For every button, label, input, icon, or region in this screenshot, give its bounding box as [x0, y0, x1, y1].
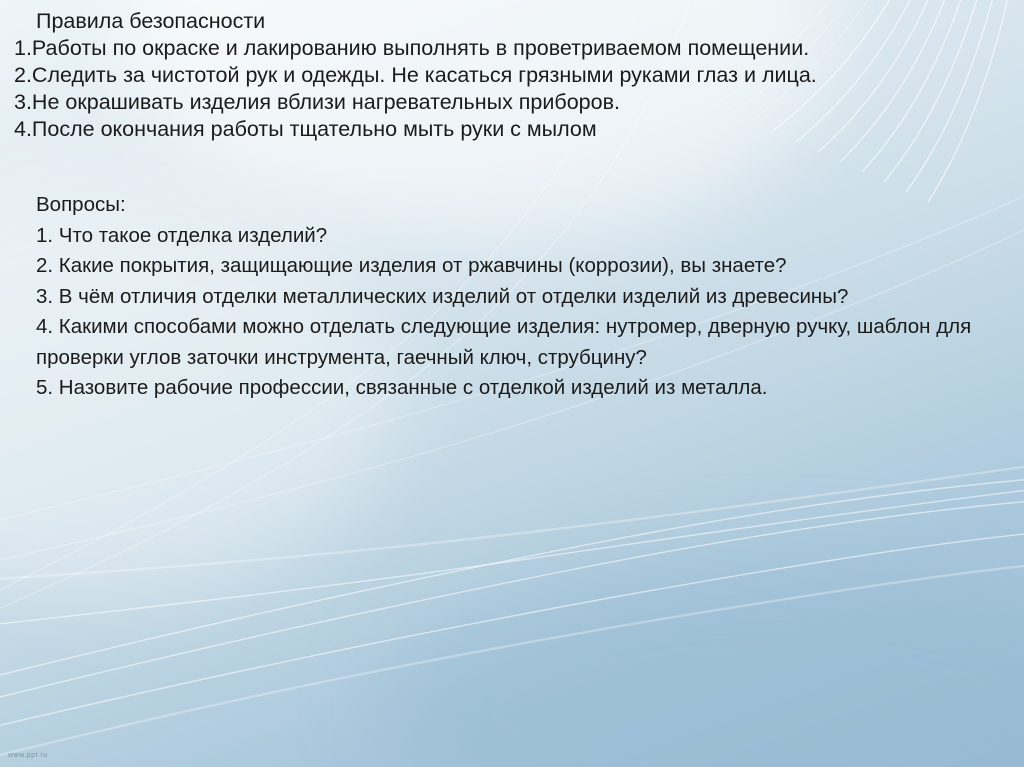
wave-lines-graphic — [0, 430, 1024, 767]
safety-rules-block: Правила безопасности 1.Работы по окраске… — [14, 8, 1014, 143]
questions-block: Вопросы: 1. Что такое отделка изделий? 2… — [36, 190, 996, 404]
questions-heading: Вопросы: — [36, 190, 996, 221]
safety-rule-1: 1.Работы по окраске и лакированию выполн… — [14, 35, 1014, 62]
safety-rule-2: 2.Следить за чистотой рук и одежды. Не к… — [14, 62, 1014, 89]
slide-heading: Правила безопасности — [14, 8, 1014, 35]
question-1: 1. Что такое отделка изделий? — [36, 221, 996, 252]
question-4: 4. Какими способами можно отделать следу… — [36, 312, 996, 373]
watermark-label: www.ppt.ru — [8, 752, 48, 759]
slide-canvas: Правила безопасности 1.Работы по окраске… — [0, 0, 1024, 767]
question-3: 3. В чём отличия отделки металлических и… — [36, 282, 996, 313]
question-5: 5. Назовите рабочие профессии, связанные… — [36, 373, 996, 404]
question-2: 2. Какие покрытия, защищающие изделия от… — [36, 251, 996, 282]
safety-rule-3: 3.Не окрашивать изделия вблизи нагревате… — [14, 89, 1014, 116]
background-glow-bottom — [380, 560, 1024, 767]
safety-rule-4: 4.После окончания работы тщательно мыть … — [14, 116, 1014, 143]
